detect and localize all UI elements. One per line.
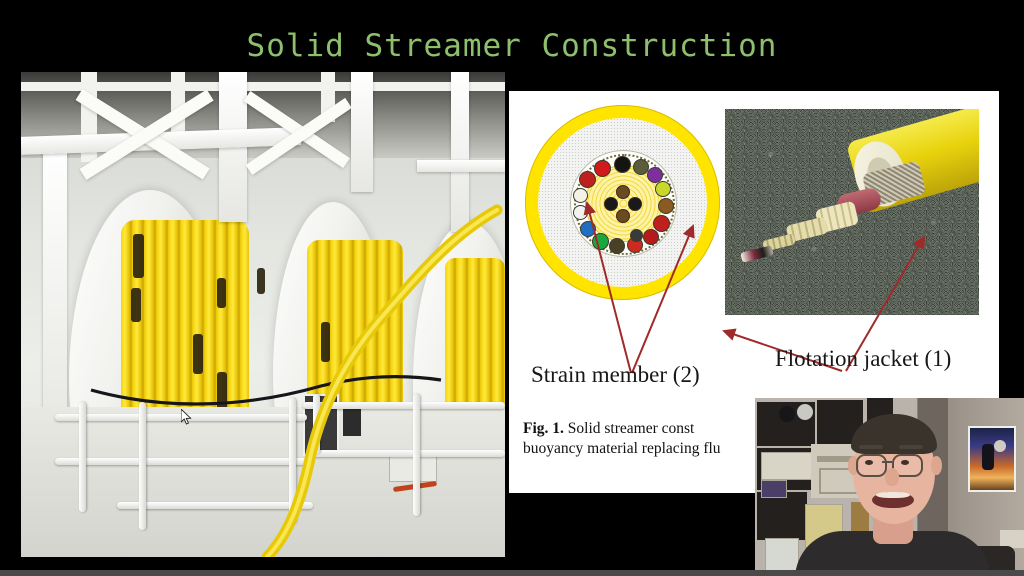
poster-moon-detail [994,440,1006,452]
presenter-eye [901,460,909,465]
presenter-webcam-overlay[interactable] [755,398,1024,576]
equipment-dish [797,404,813,420]
presenter-eyebrow [899,445,923,449]
caption-line-1: Solid streamer const [568,420,695,437]
presenter-teeth [876,492,910,498]
stacked-bins [765,538,799,574]
eyeglasses-bridge [882,461,892,463]
video-progress-bar[interactable] [0,570,1024,576]
label-strain-member: Strain member (2) [531,362,700,388]
mouse-pointer [181,409,192,425]
presenter-eyebrow [859,445,883,449]
presenter-nose [885,468,899,486]
label-flotation-jacket: Flotation jacket (1) [775,346,951,372]
presenter-ear [931,456,942,475]
loose-streamer-cable [21,202,505,557]
framed-movie-poster [968,426,1016,492]
equipment-module [761,480,787,498]
presenter-eye [865,460,873,465]
equipment-shelf [757,492,807,540]
equipment-sphere [779,406,795,422]
page-title: Solid Streamer Construction [0,28,1024,64]
slide-stage: Solid Streamer Construction [0,0,1024,576]
ceiling-beam [21,82,505,91]
deck-frame-beam [417,160,505,172]
eyeglasses-lens [856,454,887,477]
equipment-module [761,452,813,480]
streamer-reel-deck-photo [21,72,505,557]
caption-figure-number: Fig. 1. [523,420,564,437]
deck-frame-beam [351,72,373,192]
